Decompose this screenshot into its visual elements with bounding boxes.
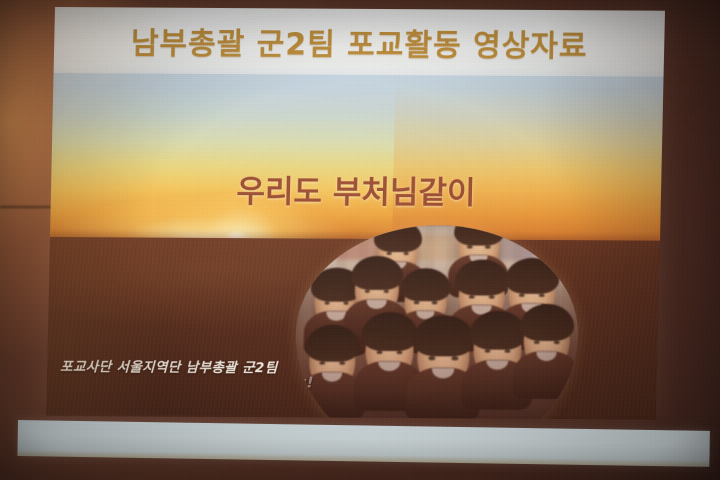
slide-caption: 포교사단 서울지역단 남부총괄 군2팀 xyxy=(60,355,278,376)
slide-title-band: 남부총괄 군2팀 포교활동 영상자료 xyxy=(54,7,665,77)
slide-slogan: 우리도 부처님같이 xyxy=(51,165,662,214)
photo-soft-vignette xyxy=(293,224,580,419)
projected-slide: 남부총괄 군2팀 포교활동 영상자료 우리도 부처님같이 xyxy=(46,7,665,420)
slide-title: 남부총괄 군2팀 포교활동 영상자료 xyxy=(130,18,588,65)
group-photo-oval: g! xyxy=(293,224,580,419)
projected-slide-photograph: 남부총괄 군2팀 포교활동 영상자료 우리도 부처님같이 xyxy=(0,0,720,480)
